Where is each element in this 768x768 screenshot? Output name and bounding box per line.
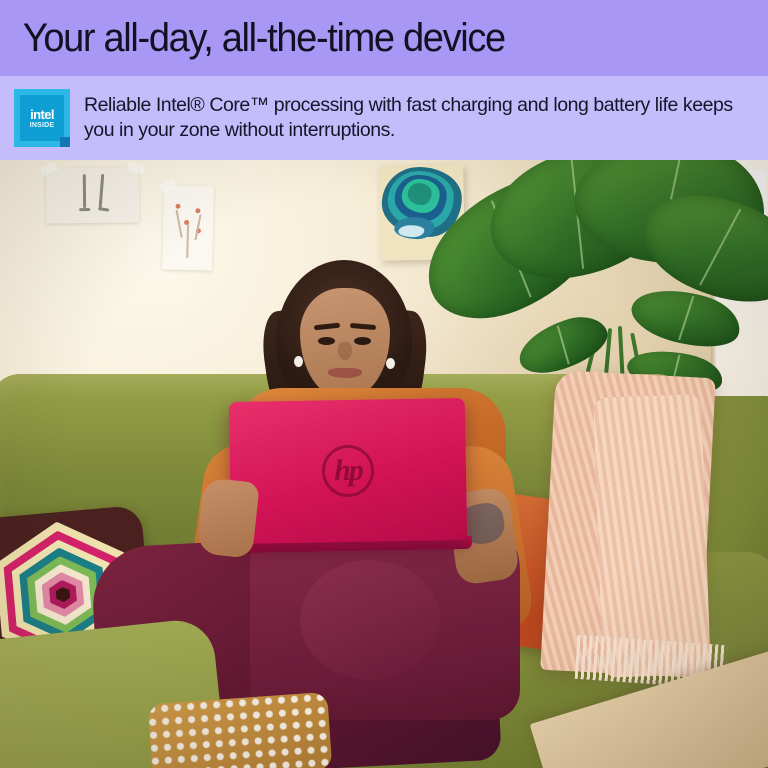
mouth [328,368,362,378]
flower-bloom [195,208,200,213]
earring-left [294,356,303,367]
eyebrow-right [350,323,376,330]
throw-blanket-fold [593,394,711,678]
lifestyle-photo: hp [0,160,768,768]
intel-inside-label: INSIDE [30,122,55,129]
hp-wordmark: hp [334,456,362,486]
intel-wordmark: intel [30,108,54,121]
paint-blob [398,225,424,237]
intel-badge-corner [60,137,70,147]
flower-bloom [175,204,180,209]
patterned-floor-textile [147,692,332,768]
eye-left [318,337,335,345]
nose [338,342,352,360]
eye-right [354,337,371,345]
earring-right [386,358,395,369]
subcopy-text: Reliable Intel® Core™ processing with fa… [84,93,754,143]
intel-badge-inner: intel INSIDE [20,95,64,141]
sketch-line [99,174,105,208]
wall-art-legs-sketch [46,168,140,224]
hand-left [196,477,260,558]
flower-stem [194,214,201,240]
wall-art-flower-sketch [162,185,214,270]
hp-logo-icon: hp [322,445,375,498]
flower-stem [186,224,188,258]
plant-leaf [512,309,614,381]
sketch-line [79,208,90,211]
flower-stem [176,210,183,238]
pants-fold-highlight [300,560,440,680]
intel-inside-badge-icon: intel INSIDE [14,89,70,147]
headline-band: Your all-day, all-the-time device [0,0,768,76]
sketch-line [83,174,86,208]
hp-intel-ad-banner: Your all-day, all-the-time device intel … [0,0,768,768]
paint-blob [407,183,431,205]
page-title: Your all-day, all-the-time device [0,18,505,58]
sketch-line [98,207,109,212]
eyebrow-left [314,323,340,331]
subcopy-band: intel INSIDE Reliable Intel® Core™ proce… [0,76,768,160]
hp-laptop-lid: hp [229,398,467,544]
